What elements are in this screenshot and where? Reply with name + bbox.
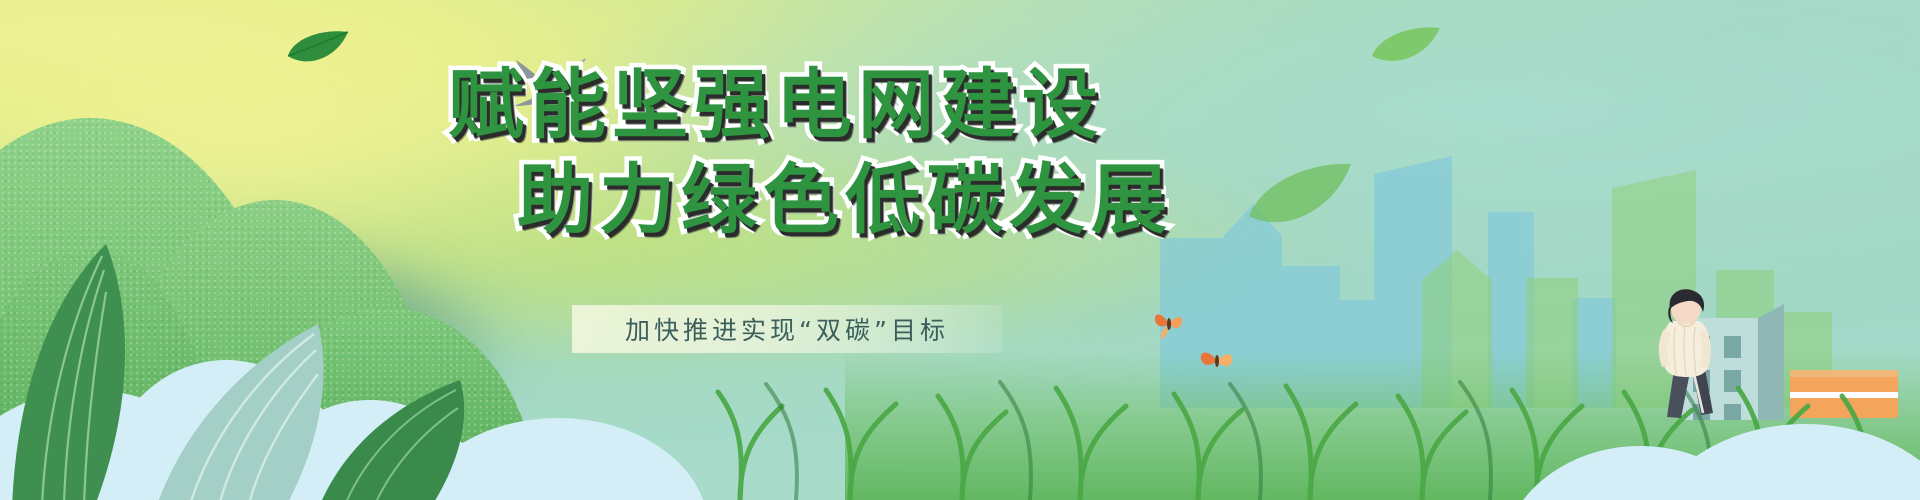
subtitle-text: 加快推进实现“双碳”目标 (572, 305, 1002, 353)
butterfly-right-icon (1198, 344, 1236, 376)
floating-leaf-mid-right-icon (1245, 160, 1355, 232)
floating-leaf-top-right-icon (1370, 24, 1442, 70)
leaf-dark-left-2 (310, 378, 510, 500)
butterfly-center-icon (1152, 306, 1186, 340)
walking-person (1645, 285, 1731, 420)
eco-power-banner: 赋能坚强电网建设 助力绿色低碳发展 加快推进实现“双碳”目标 (0, 0, 1920, 500)
floating-leaf-top-left-icon (286, 30, 350, 72)
swallow-bird-icon (508, 56, 594, 112)
